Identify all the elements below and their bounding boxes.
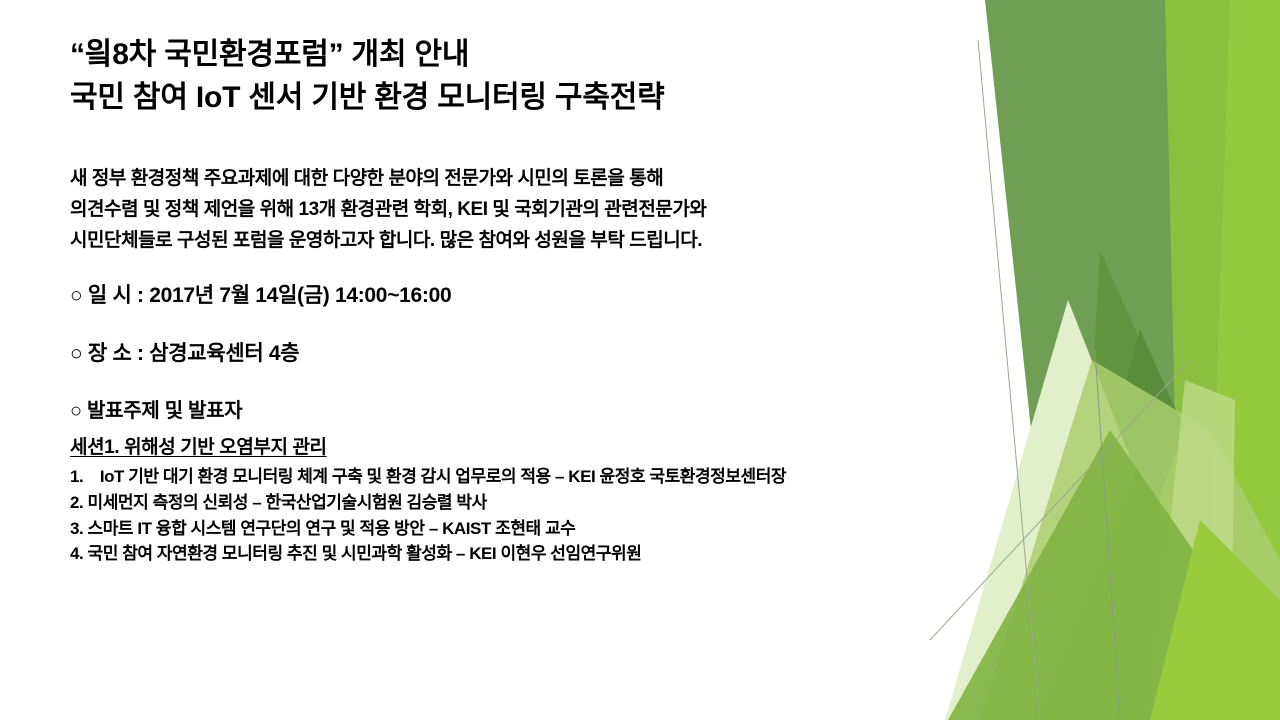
facet-shape-bottom-diagonal	[948, 430, 1200, 720]
paragraph-line-2: 의견수렴 및 정책 제언을 위해 13개 환경관련 학회, KEI 및 국회기관…	[70, 195, 950, 226]
facet-shape-lime-corner	[1150, 520, 1280, 720]
slide-text-content: “읰8차 국민환경포럼” 개최 안내 국민 참여 IoT 센서 기반 환경 모니…	[70, 0, 960, 720]
facet-shape-olive-wedge	[985, 0, 1175, 700]
facet-hairline-short	[1095, 350, 1120, 720]
paragraph-line-1: 새 정부 환경정책 주요과제에 대한 다양한 분야의 전문가와 시민의 토론을 …	[70, 164, 950, 195]
intro-paragraph: 새 정부 환경정책 주요과제에 대한 다양한 분야의 전문가와 시민의 토론을 …	[70, 164, 950, 256]
facet-shape-pale-sheet	[945, 300, 1135, 720]
list-item: 4. 국민 참여 자연환경 모니터링 추진 및 시민과학 활성화 – KEI 이…	[70, 541, 960, 567]
facet-shape-deep-spike	[1115, 330, 1185, 520]
list-item: 2. 미세먼지 측정의 신뢰성 – 한국산업기술시험원 김승렬 박사	[70, 490, 960, 516]
facet-shape-light-wedge	[1150, 380, 1235, 720]
title-line-2: 국민 참여 IoT 센서 기반 환경 모니터링 구축전략	[70, 77, 960, 120]
facet-shape-lime-base	[1010, 0, 1280, 720]
facet-shape-mid-green	[1000, 0, 1230, 720]
facet-hairline-diagonal	[930, 360, 1190, 640]
session-title: 세션1. 위해성 기반 오염부지 관리	[70, 432, 327, 459]
paragraph-line-3: 시민단체들로 구성된 포럼을 운영하고자 합니다. 많은 참여와 성원을 부탁 …	[70, 226, 950, 257]
event-datetime: ○ 일 시 : 2017년 7월 14일(금) 14:00~16:00	[70, 279, 451, 309]
slide-canvas: “읰8차 국민환경포럼” 개최 안내 국민 참여 IoT 센서 기반 환경 모니…	[0, 0, 1280, 720]
list-item: 1. IoT 기반 대기 환경 모니터링 체계 구축 및 환경 감시 업무로의 …	[70, 464, 960, 490]
list-item: 3. 스마트 IT 융합 시스템 연구단의 연구 및 적용 방안 – KAIST…	[70, 516, 960, 542]
slide-title: “읰8차 국민환경포럼” 개최 안내 국민 참여 IoT 센서 기반 환경 모니…	[70, 34, 960, 119]
presentation-list: 1. IoT 기반 대기 환경 모니터링 체계 구축 및 환경 감시 업무로의 …	[70, 464, 960, 567]
program-heading: ○ 발표주제 및 발표자	[70, 394, 242, 423]
facet-shape-dark-wedge	[1090, 250, 1175, 500]
facet-hairline-long	[978, 40, 1040, 720]
title-line-1: “읰8차 국민환경포럼” 개최 안내	[70, 34, 960, 77]
facet-shape-light-sweep	[980, 360, 1280, 720]
event-venue: ○ 장 소 : 삼경교육센터 4층	[70, 337, 299, 367]
